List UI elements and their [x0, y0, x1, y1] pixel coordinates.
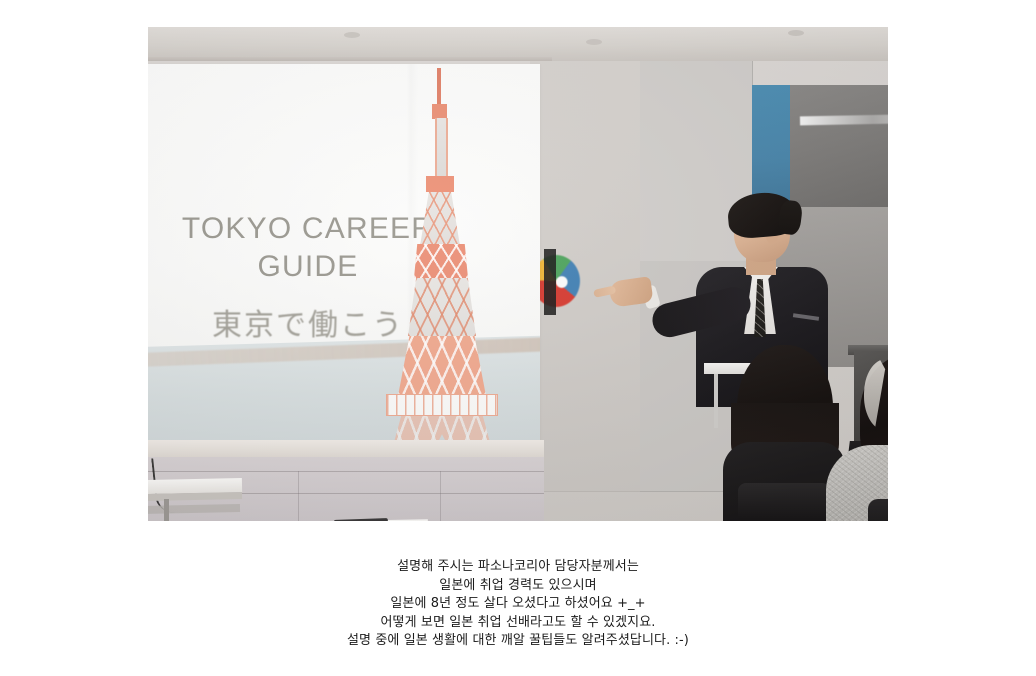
ceiling-light-icon: [586, 39, 602, 45]
glass-partition: [790, 85, 888, 207]
cabinet-seam: [440, 471, 441, 521]
tower-section-lower: [398, 336, 486, 396]
screen-bottom-trim: [148, 440, 544, 457]
chair: [868, 499, 888, 521]
tower-section-mid: [408, 278, 476, 336]
caption-line: 일본에 취업 경력도 있으시며: [0, 577, 1036, 596]
blue-accent-panel: [752, 85, 790, 207]
caption-line: 일본에 8년 정도 살다 오셨다고 하셨어요 +_+: [0, 595, 1036, 614]
slide-title-line2: GUIDE: [257, 250, 358, 283]
desk-leg: [164, 499, 169, 521]
tower-antenna: [437, 68, 441, 106]
seminar-photo: E ve R H TOKYO CAREER GUIDE 東京で働こう: [148, 27, 888, 521]
ceiling-light-icon: [788, 30, 804, 36]
cabinet-seam: [148, 471, 544, 472]
projection-screen: TOKYO CAREER GUIDE 東京で働こう: [148, 64, 540, 442]
tokyo-tower-illustration: [384, 68, 500, 442]
cabinet-seam: [298, 471, 299, 521]
screen-frame-edge: [544, 249, 556, 315]
caption-line: 설명 중에 일본 생활에 대한 깨알 꿀팁들도 알려주셨답니다. :-): [0, 632, 1036, 651]
caption-block: 설명해 주시는 파소나코리아 담당자분께서는 일본에 취업 경력도 있으시며 일…: [0, 558, 1036, 651]
tower-base-legs: [382, 416, 502, 442]
light-reflection-streak: [800, 114, 888, 126]
caption-line: 어떻게 보면 일본 취업 선배라고도 할 수 있겠지요.: [0, 614, 1036, 633]
tower-top-deck: [426, 176, 454, 192]
tower-main-observatory: [386, 394, 498, 416]
tower-special-observatory: [414, 244, 468, 278]
tower-upper-mast: [435, 118, 448, 178]
caption-line: 설명해 주시는 파소나코리아 담당자분께서는: [0, 558, 1036, 577]
ceiling: [148, 27, 888, 61]
tower-section-upper: [420, 192, 460, 246]
tower-antenna-block: [432, 104, 447, 119]
ceiling-light-icon: [344, 32, 360, 38]
back-table-leg: [714, 374, 718, 428]
chair: [738, 483, 830, 521]
